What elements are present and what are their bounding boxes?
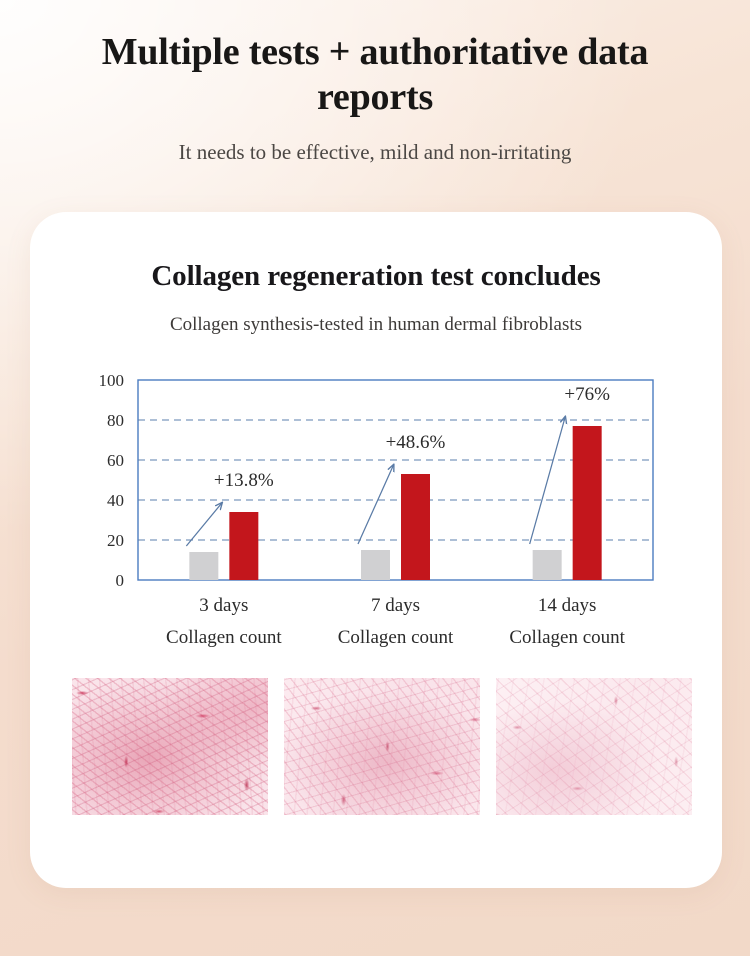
annotation-7-days: +48.6% [386,432,446,453]
micrograph-row [72,678,692,815]
bar-treated-7-days [401,474,430,580]
bar-treated-14-days [573,426,602,580]
x-label-14-days: 14 days [538,595,597,616]
collagen-bar-chart: 020406080100 +13.8%+48.6%+76% 3 daysColl… [30,364,722,654]
bar-control-7-days [361,550,390,580]
bar-control-3-days [189,552,218,580]
micrograph-7-days [284,678,480,815]
page-title: Multiple tests + authoritative data repo… [0,30,750,120]
content-card: Collagen regeneration test concludes Col… [30,212,722,888]
annotation-3-days: +13.8% [214,470,274,491]
y-axis-tick-labels: 020406080100 [99,371,125,590]
card-title: Collagen regeneration test concludes [30,260,722,293]
x-label-7-days: 7 days [371,595,420,616]
bar-control-14-days [533,550,562,580]
y-tick-20: 20 [107,531,124,550]
y-tick-100: 100 [99,371,125,390]
x-label-3-days: 3 days [199,595,248,616]
bar-treated-3-days [229,512,258,580]
page-header: Multiple tests + authoritative data repo… [0,0,750,165]
x-sublabel-14-days: Collagen count [509,627,625,648]
annotation-14-days: +76% [564,384,610,405]
x-sublabel-3-days: Collagen count [166,627,282,648]
y-tick-0: 0 [116,571,125,590]
y-tick-80: 80 [107,411,124,430]
y-tick-60: 60 [107,451,124,470]
card-subtitle: Collagen synthesis-tested in human derma… [30,314,722,336]
y-tick-40: 40 [107,491,124,510]
x-sublabel-7-days: Collagen count [338,627,454,648]
x-axis-category-labels: 3 daysCollagen count7 daysCollagen count… [166,595,626,648]
micrograph-3-days [72,678,268,815]
page-subtitle: It needs to be effective, mild and non-i… [0,140,750,165]
micrograph-14-days [496,678,692,815]
chart-svg: 020406080100 +13.8%+48.6%+76% 3 daysColl… [30,364,722,654]
